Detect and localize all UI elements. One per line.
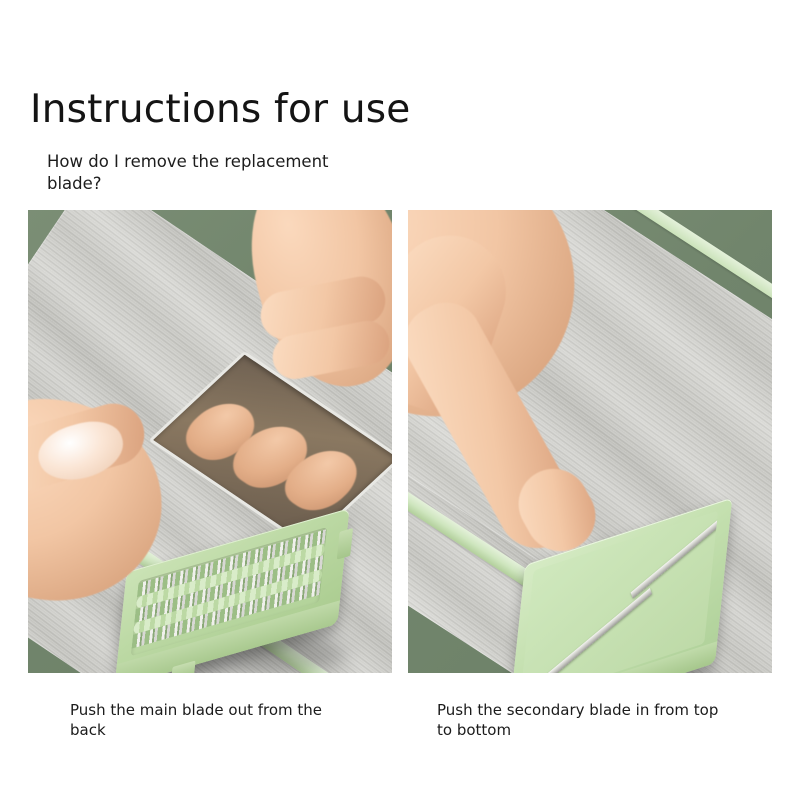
instruction-step-image-left: [28, 210, 392, 673]
photo-background-left: [28, 210, 392, 673]
caption-right: Push the secondary blade in from top to …: [437, 701, 727, 741]
photo-background-right: [408, 210, 772, 673]
instruction-step-image-right: [408, 210, 772, 673]
page-title: Instructions for use: [30, 88, 411, 133]
secondary-blade-edge-1: [543, 588, 652, 673]
instruction-page: Instructions for use How do I remove the…: [0, 0, 800, 800]
caption-left: Push the main blade out from the back: [70, 701, 346, 741]
page-subtitle: How do I remove the replacement blade?: [47, 151, 347, 196]
